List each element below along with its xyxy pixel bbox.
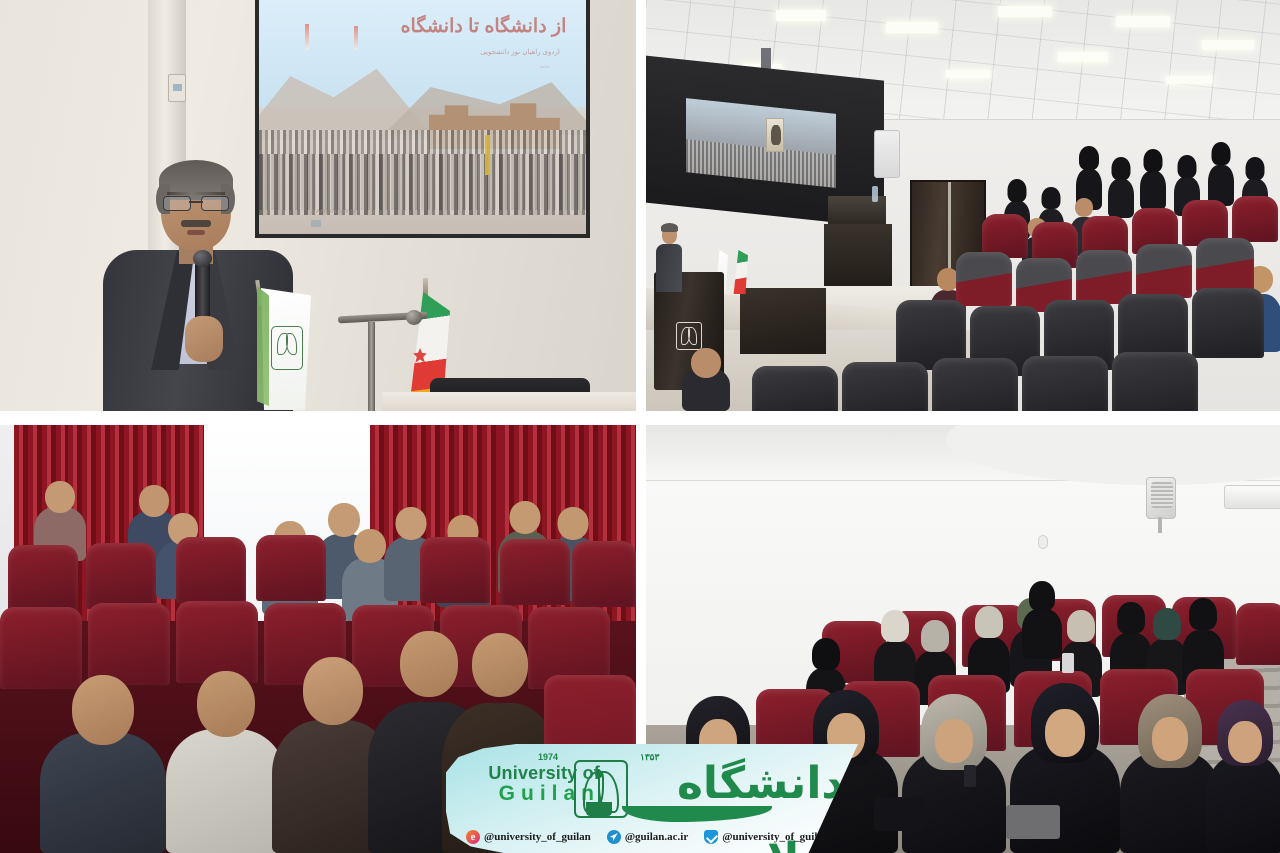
- person-headscarf: [1144, 149, 1163, 172]
- bale-handle: @university_of_guilan: [722, 831, 829, 843]
- photo-top-right: [646, 0, 1280, 411]
- person-head: [1075, 198, 1093, 217]
- theater-seat: [86, 543, 156, 609]
- projected-image: [686, 98, 836, 188]
- theater-seat: [1236, 603, 1280, 665]
- person-head: [510, 501, 541, 534]
- person-body: [166, 729, 286, 853]
- smartphone: [1062, 653, 1074, 673]
- person-body: [1140, 171, 1166, 210]
- speaker-glasses: [163, 196, 229, 209]
- audience-person: [1140, 152, 1166, 210]
- ceiling-lamp: [1058, 52, 1108, 62]
- speaker-hand: [185, 316, 223, 362]
- ceiling-lamp: [1202, 40, 1254, 50]
- slide-watermark-mark: [311, 220, 321, 227]
- person-head: [396, 507, 427, 540]
- theater-seat: [572, 541, 636, 607]
- microphone-head: [193, 250, 212, 267]
- audience-person: [682, 348, 730, 411]
- person-body: [1022, 609, 1062, 659]
- university-emblem-icon: [271, 326, 303, 370]
- person-head: [472, 633, 528, 697]
- person-head: [1045, 709, 1085, 757]
- person-headscarf: [1178, 155, 1197, 178]
- year-gregorian: 1974: [538, 752, 558, 762]
- person-body: [40, 732, 166, 853]
- person-headscarf: [1117, 602, 1145, 634]
- theater-seat: [1136, 244, 1192, 298]
- smartphone: [964, 765, 976, 787]
- person-head: [72, 675, 134, 745]
- photo-top-left: از دانشگاه تا دانشگاه اردوی راهیان نور د…: [0, 0, 636, 411]
- person-headscarf: [1212, 142, 1231, 165]
- theater-seat: [420, 537, 490, 603]
- person-headscarf: [1079, 146, 1099, 170]
- person-head: [45, 481, 75, 513]
- university-emblem-icon: [676, 322, 702, 350]
- person-head: [935, 719, 973, 763]
- slide-tag: [540, 66, 550, 68]
- person-head: [558, 507, 589, 540]
- air-conditioner: [874, 130, 900, 178]
- bale-icon: [704, 830, 718, 844]
- person-headscarf: [881, 610, 909, 642]
- slide-yellow-flag: [485, 135, 490, 175]
- theater-seat: [932, 358, 1018, 411]
- person-headscarf: [975, 606, 1003, 638]
- telegram-icon: [607, 830, 621, 844]
- photo-collage: از دانشگاه تا دانشگاه اردوی راهیان نور د…: [0, 0, 1280, 853]
- speaker-figure: [654, 222, 684, 292]
- university-flag: [255, 278, 315, 411]
- theater-seat: [842, 362, 928, 411]
- social-bale[interactable]: @university_of_guilan: [704, 830, 829, 844]
- social-instagram[interactable]: @university_of_guilan: [466, 830, 591, 844]
- speaker-mouth: [187, 230, 205, 235]
- theater-seat: [500, 539, 570, 605]
- person-chador: [1206, 755, 1280, 853]
- theater-seat: [1022, 356, 1108, 411]
- instagram-icon: [466, 830, 480, 844]
- wall-speaker: [1146, 477, 1176, 519]
- audience-person: [1208, 146, 1234, 206]
- stage-desk: [740, 288, 826, 354]
- projection-screen: از دانشگاه تا دانشگاه اردوی راهیان نور د…: [259, 0, 586, 234]
- equipment-cabinet: [824, 224, 892, 288]
- laptop-bag: [1006, 805, 1060, 839]
- speaker-glasses-bridge: [189, 201, 203, 203]
- ceiling-lamp: [1116, 16, 1170, 27]
- speaker-mustache: [181, 220, 211, 227]
- theater-seat: [752, 366, 838, 411]
- front-table: [382, 392, 636, 411]
- speaker-hair: [661, 223, 678, 232]
- theater-seat: [176, 537, 246, 603]
- person-headscarf: [921, 620, 949, 652]
- person-head: [303, 657, 363, 725]
- person-head: [1228, 721, 1262, 763]
- person-headscarf: [1189, 598, 1217, 630]
- emblem-base: [586, 802, 612, 816]
- audience-person: [40, 675, 166, 853]
- ceiling-lamp: [946, 70, 990, 78]
- flag-green-edge: [257, 286, 269, 406]
- mic-stand-knob: [406, 310, 422, 325]
- audience-person: [1206, 709, 1280, 853]
- audience-person: [1022, 585, 1062, 659]
- ceiling-lamp: [886, 22, 938, 33]
- person-head: [197, 671, 255, 737]
- slide-crowd-front: [259, 154, 586, 215]
- person-headscarf: [1153, 608, 1181, 640]
- instagram-handle: @university_of_guilan: [484, 831, 591, 843]
- theater-seat: [1232, 196, 1278, 242]
- theater-seat: [1192, 288, 1264, 358]
- slide-watermark: RAHIAN.INFO: [311, 209, 355, 215]
- speaker-brows: [167, 192, 225, 195]
- person-body: [1108, 179, 1134, 218]
- slide-flag-b: [354, 26, 358, 50]
- water-bottle: [872, 186, 878, 202]
- handbag: [874, 797, 924, 831]
- theater-seat: [256, 535, 326, 601]
- person-head: [1152, 717, 1188, 761]
- university-branding-banner: 1974 ۱۳۵۳ University of Guilan دانشگاه گ…: [446, 744, 858, 853]
- person-head: [691, 348, 721, 378]
- person-head: [354, 529, 386, 563]
- speaker-bracket: [1158, 517, 1162, 533]
- speaker-suit: [656, 244, 682, 292]
- audience-person: [1108, 160, 1134, 218]
- audience-person: [1120, 703, 1220, 853]
- telegram-handle: @guilan.ac.ir: [625, 831, 688, 843]
- theater-seat: [1196, 238, 1254, 292]
- ceiling-lamp: [998, 6, 1052, 17]
- theater-seat: [956, 252, 1012, 306]
- theater-seat: [1112, 352, 1198, 411]
- person-headscarf: [812, 638, 840, 670]
- social-telegram[interactable]: @guilan.ac.ir: [607, 830, 688, 844]
- emblem-stem: [598, 777, 600, 803]
- person-headscarf: [1112, 157, 1131, 180]
- air-conditioner: [1224, 485, 1280, 509]
- person-headscarf: [1008, 179, 1027, 202]
- slide-flag-a: [305, 24, 309, 50]
- wall-switch: [168, 74, 186, 102]
- slide-title: از دانشگاه تا دانشگاه: [401, 15, 567, 38]
- theater-seat: [8, 545, 78, 611]
- person-headscarf: [1246, 157, 1265, 180]
- ceiling-lamp: [1166, 76, 1212, 84]
- wall-sensor: [1038, 535, 1048, 549]
- ceiling-lamp: [776, 10, 826, 21]
- theater-seat: [88, 603, 170, 685]
- person-headscarf: [1067, 610, 1095, 642]
- mic-stand-post: [368, 322, 375, 411]
- person-headscarf: [1042, 187, 1061, 209]
- audience-person: [166, 671, 286, 853]
- social-handles: @university_of_guilan @guilan.ac.ir @uni…: [466, 830, 829, 844]
- person-headscarf: [1029, 581, 1055, 611]
- slide-subtitle: اردوی راهیان نور دانشجویی: [480, 48, 560, 56]
- leader-portrait: [766, 118, 784, 152]
